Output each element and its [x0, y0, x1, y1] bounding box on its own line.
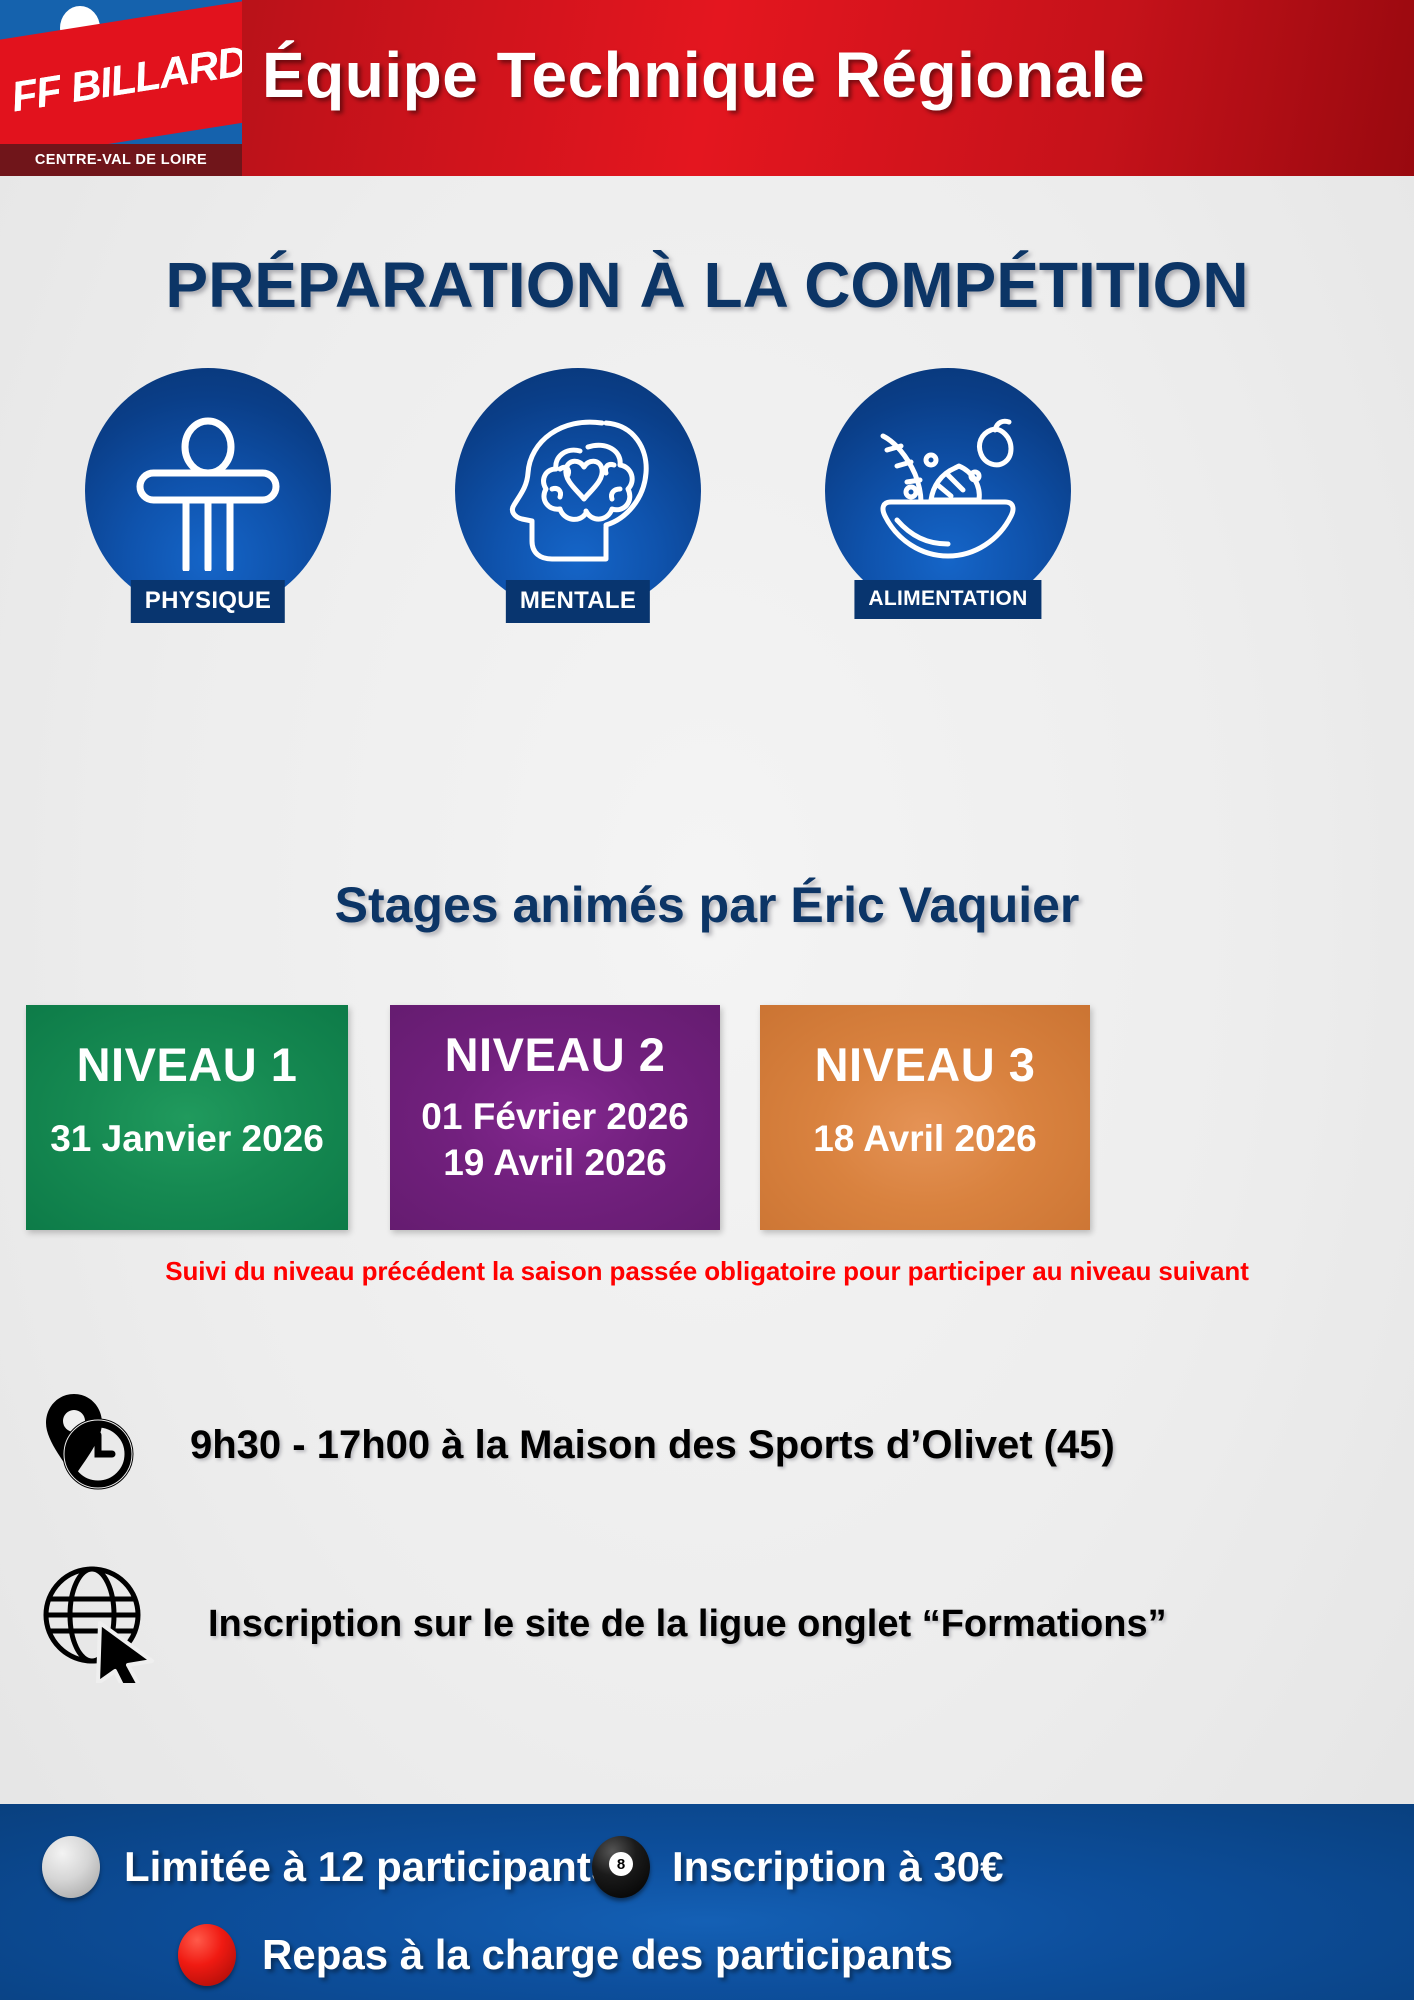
body-stretch-icon	[128, 411, 288, 571]
bottom-item-participants: Limitée à 12 participants	[42, 1836, 614, 1898]
levels-group: NIVEAU 1 31 Janvier 2026 NIVEAU 2 01 Fév…	[0, 1005, 1414, 1230]
location-clock-icon	[40, 1390, 160, 1500]
bottom-item-text: Inscription à 30€	[672, 1843, 1003, 1891]
info-line-location: 9h30 - 17h00 à la Maison des Sports d’Ol…	[40, 1390, 1115, 1500]
eight-ball-number: 8	[609, 1852, 633, 1876]
info-text: Inscription sur le site de la ligue ongl…	[208, 1603, 1167, 1646]
level-title: NIVEAU 2	[390, 1027, 720, 1082]
level-title: NIVEAU 1	[26, 1037, 348, 1092]
eight-ball-icon: 8	[592, 1836, 650, 1898]
globe-cursor-icon	[40, 1565, 160, 1683]
logo-region-bar: CENTRE-VAL DE LOIRE	[0, 144, 242, 176]
info-line-registration: Inscription sur le site de la ligue ongl…	[40, 1565, 1167, 1683]
brain-heart-head-icon	[494, 407, 662, 575]
pillar-label: ALIMENTATION	[854, 580, 1041, 619]
bottom-item-text: Repas à la charge des participants	[262, 1931, 953, 1979]
poster-root: Équipe Technique Régionale FF BILLARD CE…	[0, 0, 1414, 2000]
level-date: 31 Janvier 2026	[26, 1116, 348, 1162]
red-billiard-ball-icon	[178, 1924, 236, 1986]
pillar-circle	[455, 368, 701, 614]
pillars-group: PHYSIQUE MENTALE	[0, 368, 1414, 638]
bottom-banner: Limitée à 12 participants 8 Inscription …	[0, 1804, 1414, 2000]
level-date: 18 Avril 2026	[760, 1116, 1090, 1162]
ff-billard-logo: FF BILLARD CENTRE-VAL DE LOIRE	[0, 0, 242, 176]
pillar-label: MENTALE	[506, 580, 650, 623]
pillar-label: PHYSIQUE	[131, 580, 285, 623]
level-card-1: NIVEAU 1 31 Janvier 2026	[26, 1005, 348, 1230]
prerequisite-warning: Suivi du niveau précédent la saison pass…	[0, 1256, 1414, 1287]
page-title: PRÉPARATION À LA COMPÉTITION	[0, 248, 1414, 322]
level-date: 01 Février 2026	[390, 1094, 720, 1140]
bottom-item-meals: Repas à la charge des participants	[178, 1924, 953, 1986]
level-date: 19 Avril 2026	[390, 1140, 720, 1186]
level-title: NIVEAU 3	[760, 1037, 1090, 1092]
header-banner: Équipe Technique Régionale FF BILLARD CE…	[0, 0, 1414, 176]
pillar-circle	[85, 368, 331, 614]
white-billiard-ball-icon	[42, 1836, 100, 1898]
logo-region-text: CENTRE-VAL DE LOIRE	[0, 144, 242, 176]
pillar-circle	[825, 368, 1071, 614]
pillar-alimentation: ALIMENTATION	[798, 368, 1098, 614]
pillar-mentale: MENTALE	[428, 368, 728, 614]
level-card-3: NIVEAU 3 18 Avril 2026	[760, 1005, 1090, 1230]
info-text: 9h30 - 17h00 à la Maison des Sports d’Ol…	[190, 1423, 1115, 1468]
salad-bowl-icon	[863, 416, 1033, 566]
subtitle: Stages animés par Éric Vaquier	[0, 876, 1414, 934]
level-card-2: NIVEAU 2 01 Février 2026 19 Avril 2026	[390, 1005, 720, 1230]
level-dates: 01 Février 2026 19 Avril 2026	[390, 1094, 720, 1187]
bottom-item-price: 8 Inscription à 30€	[592, 1836, 1003, 1898]
pillar-physique: PHYSIQUE	[58, 368, 358, 614]
header-title: Équipe Technique Régionale	[262, 38, 1145, 112]
bottom-item-text: Limitée à 12 participants	[124, 1843, 614, 1891]
